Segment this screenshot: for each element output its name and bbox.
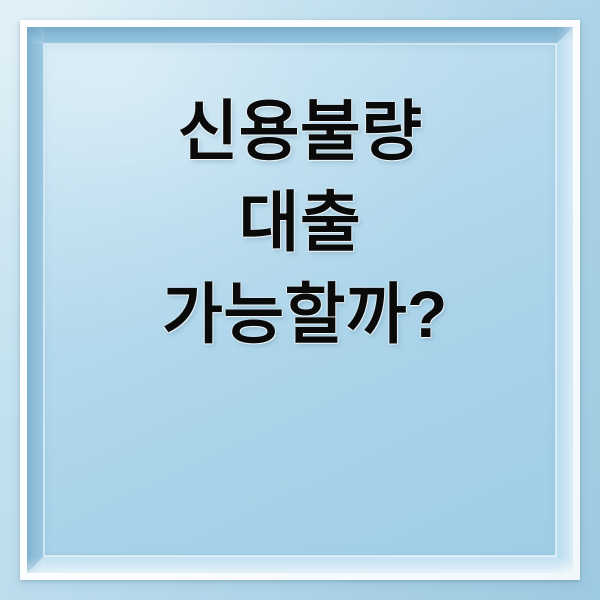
- headline-line-1: 신용불량: [178, 96, 423, 167]
- headline-block: 신용불량 대출 가능할까?: [0, 96, 600, 350]
- poster-canvas: 신용불량 대출 가능할까?: [0, 0, 600, 600]
- headline-line-2: 대출: [239, 187, 361, 258]
- headline-line-3: 가능할까?: [162, 279, 448, 350]
